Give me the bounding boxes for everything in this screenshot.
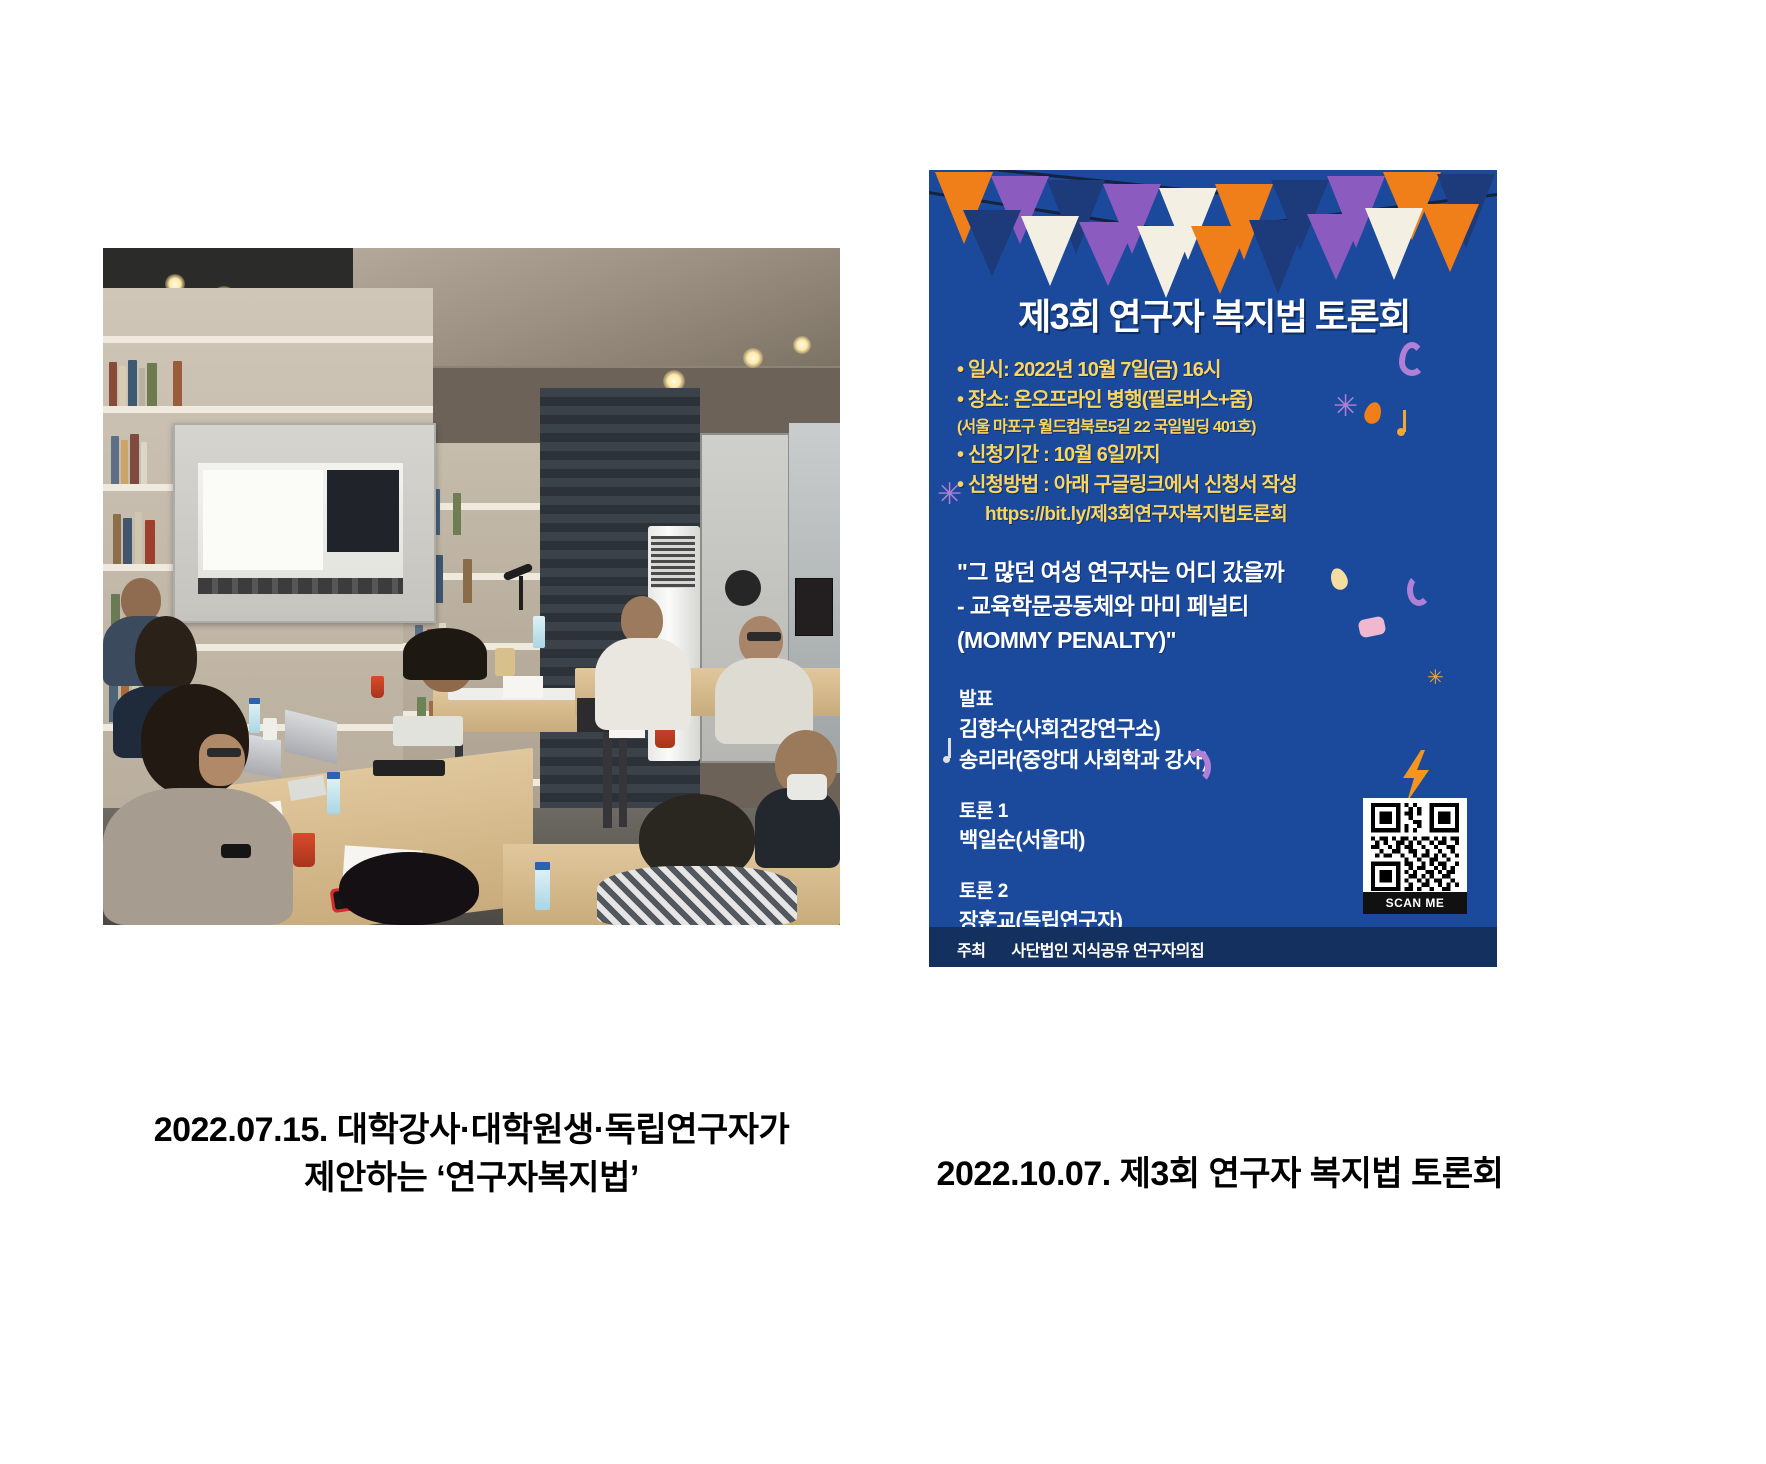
presenter-name-1: 김향수(사회건강연구소) bbox=[959, 714, 1389, 745]
section-heading-discussion-1: 토론 1 bbox=[959, 798, 1389, 826]
section-heading-discussion-2: 토론 2 bbox=[959, 878, 1389, 906]
participant-hair bbox=[403, 628, 487, 680]
small-figure bbox=[495, 648, 515, 676]
bunting-flag bbox=[1365, 208, 1423, 280]
ceiling-lamp bbox=[743, 348, 763, 368]
water-bottle bbox=[249, 703, 260, 733]
projector bbox=[393, 716, 463, 746]
section-heading-presentation: 발표 bbox=[959, 686, 1389, 714]
music-note-stem bbox=[1403, 410, 1406, 432]
bunting-flag bbox=[1421, 204, 1479, 272]
poster-details: • 일시: 2022년 10월 7일(금) 16시 • 장소: 온오프라인 병행… bbox=[957, 355, 1471, 529]
squiggle-decoration bbox=[1399, 342, 1425, 376]
asterisk-decoration-icon: ✳ bbox=[937, 480, 962, 510]
lightning-bolt-icon bbox=[1399, 750, 1433, 802]
photo-caption: 2022.07.15. 대학강사·대학원생·독립연구자가 제안하는 ‘연구자복지… bbox=[103, 1106, 840, 1203]
registration-link[interactable]: https://bit.ly/제3회연구자복지법토론회 bbox=[957, 501, 1471, 530]
projector-case bbox=[373, 760, 445, 776]
qr-code-graphic bbox=[1368, 803, 1462, 891]
footer-host-name: 사단법인 지식공유 연구자의집 bbox=[1011, 943, 1204, 960]
detail-howto: • 신청방법 : 아래 구글링크에서 신청서 작성 bbox=[957, 470, 1471, 500]
participant-body bbox=[755, 788, 840, 868]
quote-line-3: (MOMMY PENALTY)" bbox=[957, 623, 1477, 657]
fan bbox=[725, 570, 761, 606]
bunting-flag bbox=[1191, 226, 1249, 294]
bunting-flag bbox=[1249, 220, 1307, 294]
event-poster-image: 제3회 연구자 복지법 토론회 • 일시: 2022년 10월 7일(금) 16… bbox=[929, 170, 1497, 967]
drink-cup bbox=[371, 676, 384, 698]
table-leg bbox=[619, 732, 627, 827]
bunting-flag bbox=[1307, 214, 1365, 280]
paper-sheet bbox=[503, 676, 543, 698]
bunting-flag bbox=[963, 210, 1021, 276]
photo-caption-line1: 2022.07.15. 대학강사·대학원생·독립연구자가 bbox=[103, 1106, 840, 1154]
poster-footer: 주최 사단법인 지식공유 연구자의집 bbox=[929, 927, 1497, 967]
squiggle-decoration bbox=[1407, 574, 1431, 606]
slide-canvas: 2022.07.15. 대학강사·대학원생·독립연구자가 제안하는 ‘연구자복지… bbox=[0, 0, 1766, 1464]
wristband bbox=[221, 844, 251, 858]
spacer bbox=[959, 856, 1389, 878]
air-conditioner-vent bbox=[651, 536, 695, 588]
projection-toolbar bbox=[198, 578, 403, 594]
detail-deadline: • 신청기간 : 10월 6일까지 bbox=[957, 440, 1471, 470]
participant-body bbox=[103, 788, 293, 925]
participant-head bbox=[621, 596, 663, 644]
photo-block bbox=[103, 248, 840, 925]
bunting-flag bbox=[1021, 216, 1079, 286]
footer-host-label: 주최 bbox=[957, 943, 985, 960]
eyeglasses bbox=[207, 748, 241, 757]
projection-document bbox=[203, 470, 323, 570]
footer-host: 주최 사단법인 지식공유 연구자의집 bbox=[957, 937, 1204, 961]
detail-venue: • 장소: 온오프라인 병행(필로버스+줌) bbox=[957, 385, 1471, 415]
presenter-name-2: 송리라(중앙대 사회학과 강사) bbox=[959, 745, 1389, 776]
qr-scan-label: SCAN ME bbox=[1363, 892, 1467, 914]
poster-quote: "그 많던 여성 연구자는 어디 갔을까 - 교육학문공동체와 마미 페널티 (… bbox=[957, 555, 1477, 657]
water-bottle bbox=[533, 616, 545, 648]
bottle-cap bbox=[535, 862, 550, 870]
participant-hair bbox=[339, 852, 479, 925]
paper-cup bbox=[263, 718, 277, 740]
photo-caption-line2: 제안하는 ‘연구자복지법’ bbox=[103, 1154, 840, 1202]
projection-video-grid bbox=[327, 470, 399, 552]
squiggle-decoration bbox=[1185, 750, 1211, 784]
asterisk-decoration-icon: ✳ bbox=[1333, 392, 1358, 422]
poster-caption: 2022.10.07. 제3회 연구자 복지법 토론회 bbox=[900, 1150, 1540, 1198]
poster-block: 제3회 연구자 복지법 토론회 • 일시: 2022년 10월 7일(금) 16… bbox=[929, 170, 1497, 967]
water-bottle bbox=[535, 868, 550, 910]
music-note-stem bbox=[948, 738, 951, 758]
participant-face bbox=[199, 734, 245, 786]
poster-title: 제3회 연구자 복지법 토론회 bbox=[957, 288, 1471, 340]
spacer bbox=[959, 776, 1389, 798]
bottle-cap bbox=[327, 772, 340, 779]
desk-lamp-arm bbox=[519, 576, 523, 610]
wall-poster bbox=[795, 578, 833, 636]
bottle-cap bbox=[249, 698, 260, 704]
drink-cup bbox=[293, 833, 315, 867]
poster-speakers: 발표 김향수(사회건강연구소) 송리라(중앙대 사회학과 강사) 토론 1 백일… bbox=[959, 686, 1389, 937]
eyeglasses bbox=[747, 632, 781, 641]
seminar-room-photo bbox=[103, 248, 840, 925]
detail-address: (서울 마포구 월드컵북로5길 22 국일빌딩 401호) bbox=[957, 416, 1471, 440]
discussant-name-1: 백일순(서울대) bbox=[959, 825, 1389, 856]
face-mask bbox=[787, 774, 827, 800]
participant-body bbox=[597, 866, 797, 925]
detail-datetime: • 일시: 2022년 10월 7일(금) 16시 bbox=[957, 355, 1471, 385]
ceiling-lamp bbox=[793, 336, 811, 354]
quote-line-1: "그 많던 여성 연구자는 어디 갔을까 bbox=[957, 555, 1477, 589]
participant-body bbox=[595, 638, 691, 730]
asterisk-decoration-icon: ✳ bbox=[1427, 668, 1444, 688]
quote-line-2: - 교육학문공동체와 마미 페널티 bbox=[957, 589, 1477, 623]
bunting-flag bbox=[1079, 222, 1137, 286]
water-bottle bbox=[327, 778, 340, 814]
